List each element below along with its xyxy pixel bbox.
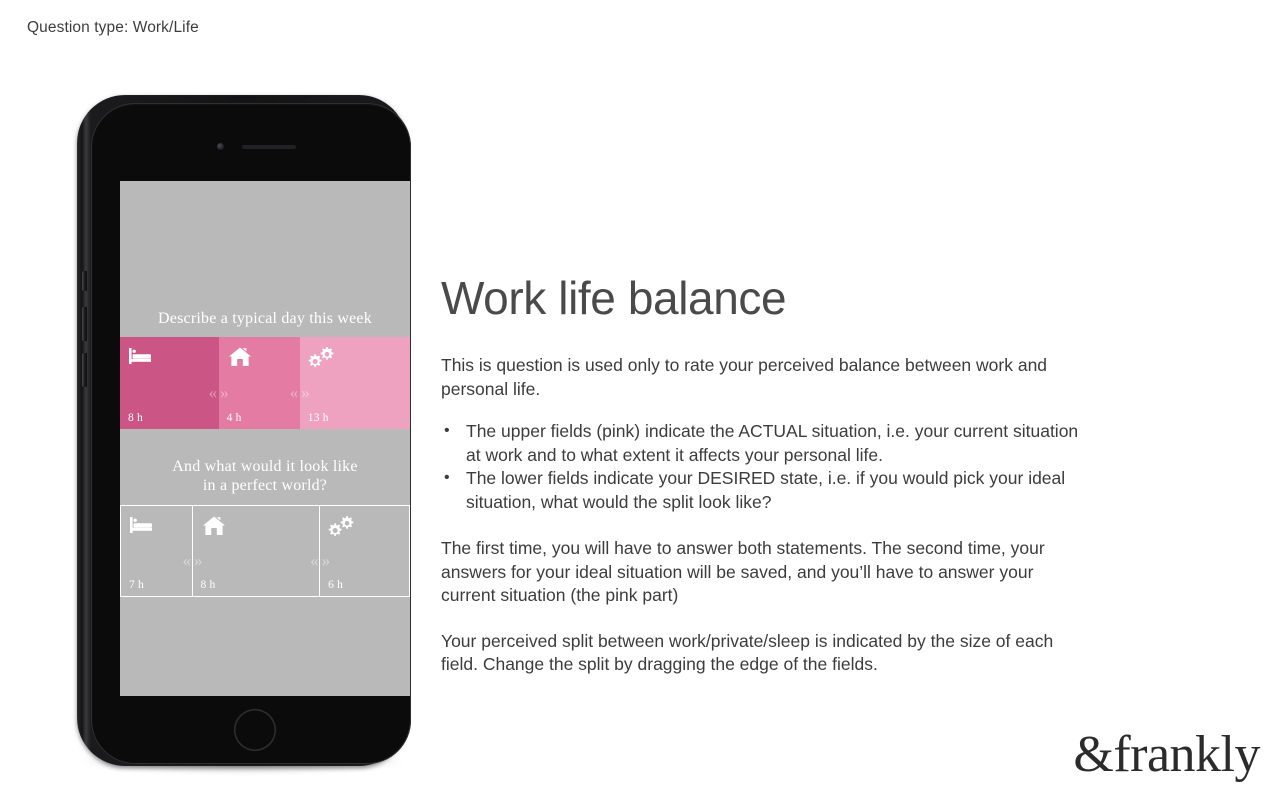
desired-fields-row: 7 h 8 h xyxy=(120,505,410,597)
phone-body: Describe a typical day this week 8 xyxy=(77,95,407,766)
desired-question-panel: And what would it look like in a perfect… xyxy=(120,429,410,505)
phone-bezel: Describe a typical day this week 8 xyxy=(91,103,411,764)
house-icon xyxy=(227,345,253,369)
bullet-list: The upper fields (pink) indicate the ACT… xyxy=(441,420,1089,514)
desired-question-line1: And what would it look like xyxy=(120,457,410,476)
chevron-left-icon: « xyxy=(310,552,319,569)
desired-question-text: And what would it look like in a perfect… xyxy=(120,457,410,495)
frankly-logo: &frankly xyxy=(1073,727,1260,783)
actual-question-text: Describe a typical day this week xyxy=(120,309,410,328)
chevron-left-icon: « xyxy=(209,384,218,401)
actual-field-private-hours: 4 h xyxy=(227,412,242,424)
home-button[interactable] xyxy=(234,709,276,751)
intro-paragraph: This is question is used only to rate yo… xyxy=(441,354,1089,401)
phone-screen: Describe a typical day this week 8 xyxy=(120,181,410,696)
actual-fields-row: 8 h 4 h xyxy=(120,337,410,429)
screen-filler xyxy=(120,597,410,696)
paragraph-split-size: Your perceived split between work/privat… xyxy=(441,630,1089,677)
actual-field-work-hours: 13 h xyxy=(308,412,329,424)
front-camera-icon xyxy=(217,143,224,150)
chevron-right-icon: » xyxy=(301,384,310,401)
mute-switch[interactable] xyxy=(82,271,87,291)
phone-mockup: Describe a typical day this week 8 xyxy=(68,92,416,782)
page-title: Work life balance xyxy=(441,272,1089,324)
actual-field-sleep-hours: 8 h xyxy=(128,412,143,424)
bed-icon xyxy=(128,345,154,369)
chevron-left-icon: « xyxy=(183,552,192,569)
actual-question-panel: Describe a typical day this week xyxy=(120,181,410,337)
desired-field-sleep-hours: 7 h xyxy=(129,579,144,591)
chevron-left-icon: « xyxy=(290,384,299,401)
house-icon xyxy=(201,514,227,538)
desired-field-work-hours: 6 h xyxy=(328,579,343,591)
list-item: The upper fields (pink) indicate the ACT… xyxy=(441,420,1089,467)
gears-icon xyxy=(308,345,334,369)
desired-divider-handle-2[interactable]: « » xyxy=(300,551,340,569)
earpiece-speaker-icon xyxy=(242,145,296,149)
desired-divider-handle-1[interactable]: « » xyxy=(173,551,213,569)
actual-divider-handle-1[interactable]: « » xyxy=(199,383,239,401)
desired-field-private-hours: 8 h xyxy=(201,579,216,591)
volume-up-button[interactable] xyxy=(82,307,87,341)
paragraph-second-time: The first time, you will have to answer … xyxy=(441,537,1089,608)
question-type-label: Question type: Work/Life xyxy=(27,19,199,37)
chevron-right-icon: » xyxy=(322,552,331,569)
gears-icon xyxy=(328,514,354,538)
bed-icon xyxy=(129,514,155,538)
actual-divider-handle-2[interactable]: « » xyxy=(280,383,320,401)
desired-question-line2: in a perfect world? xyxy=(120,476,410,495)
chevron-right-icon: » xyxy=(220,384,229,401)
content-column: Work life balance This is question is us… xyxy=(441,272,1089,699)
chevron-right-icon: » xyxy=(194,552,203,569)
list-item: The lower fields indicate your DESIRED s… xyxy=(441,467,1089,514)
volume-down-button[interactable] xyxy=(82,353,87,387)
